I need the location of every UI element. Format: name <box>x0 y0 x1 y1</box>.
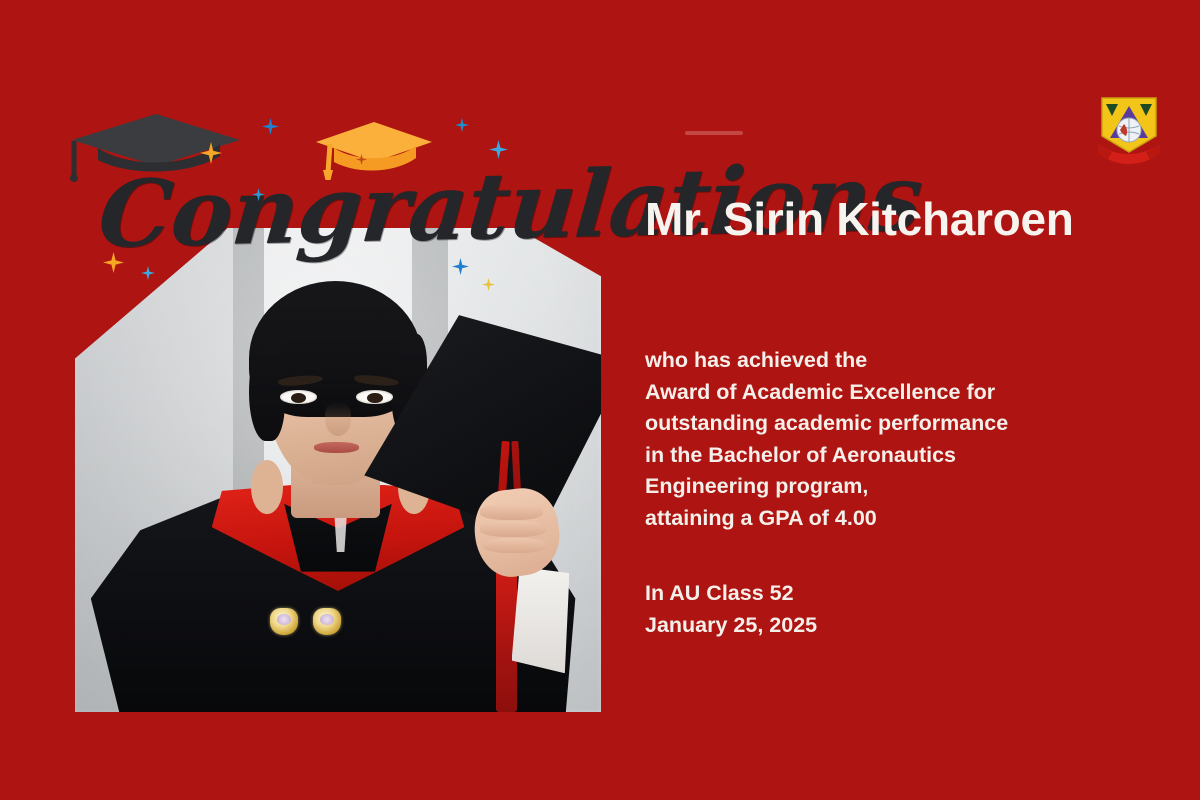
text-column: Mr. Sirin Kitcharoen who has achieved th… <box>645 0 1145 800</box>
finger <box>483 538 546 553</box>
sparkle-icon <box>103 252 124 273</box>
sparkle-icon <box>252 188 265 201</box>
sparkle-icon <box>356 154 367 165</box>
class-and-date: In AU Class 52 January 25, 2025 <box>645 578 817 641</box>
finger <box>480 521 546 537</box>
graduate-figure <box>75 228 601 712</box>
nose <box>325 402 351 436</box>
achievement-line: who has achieved the <box>645 345 1008 377</box>
au-university-crest-icon <box>1096 92 1162 166</box>
achievement-text: who has achieved the Award of Academic E… <box>645 345 1008 534</box>
sparkle-icon <box>200 142 222 164</box>
achievement-line: attaining a GPA of 4.00 <box>645 503 1008 535</box>
sparkle-icon <box>489 140 508 159</box>
graduation-cap-gold-icon <box>312 120 436 180</box>
achievement-line: Award of Academic Excellence for <box>645 377 1008 409</box>
sparkle-icon <box>455 118 469 132</box>
congratulations-card: Congratulations Mr. Sirin Kitcharoen who… <box>0 0 1200 800</box>
achievement-line: in the Bachelor of Aeronautics <box>645 440 1008 472</box>
sparkle-icon <box>141 266 155 280</box>
achievement-line: outstanding academic performance <box>645 408 1008 440</box>
achievement-line: Engineering program, <box>645 471 1008 503</box>
shirt-cuff <box>512 567 570 673</box>
hair-side <box>249 334 286 440</box>
pupil <box>367 393 383 404</box>
graduate-photo <box>75 228 601 712</box>
divider-line <box>685 131 743 135</box>
finger <box>480 504 543 520</box>
sparkle-icon <box>262 118 279 135</box>
gown-emblem <box>313 608 341 635</box>
graduate-name: Mr. Sirin Kitcharoen <box>645 192 1074 246</box>
gown-emblem <box>270 608 298 635</box>
graduation-cap-dark-icon <box>68 110 244 182</box>
date-line: January 25, 2025 <box>645 610 817 642</box>
ear <box>251 460 283 513</box>
mouth <box>314 442 359 452</box>
class-line: In AU Class 52 <box>645 578 817 610</box>
